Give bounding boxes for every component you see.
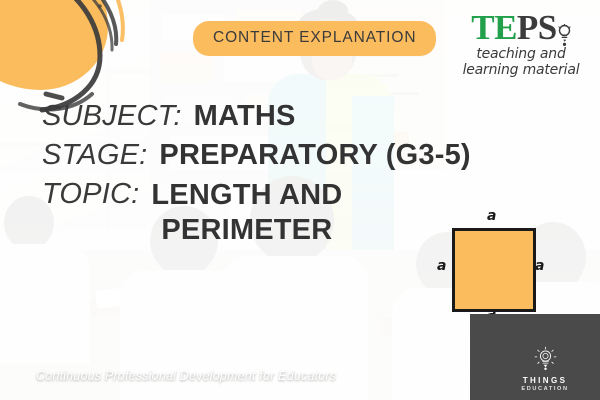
badge-name: THINGS	[512, 376, 578, 386]
content-explanation-badge: CONTENT EXPLANATION	[193, 21, 436, 56]
badge-label: CONTENT EXPLANATION	[213, 29, 416, 46]
lightbulb-icon	[534, 346, 557, 371]
footer-tagline: Continuous Professional Development for …	[36, 369, 336, 383]
topic-value: LENGTH AND PERIMETER	[151, 178, 342, 249]
square-diagram	[452, 228, 536, 312]
topic-value-line1: LENGTH AND	[151, 178, 342, 213]
teps-logo: TEPS teaching and learning material	[456, 10, 586, 78]
topic-label: TOPIC:	[42, 178, 139, 211]
logo-text-ps: PS	[517, 10, 557, 45]
content-explanation-card: CONTENT EXPLANATION TEPS teaching and le…	[0, 0, 600, 400]
row-stage: STAGE: PREPARATORY (G3-5)	[42, 139, 562, 172]
square-label-left: a	[437, 258, 446, 274]
square-label-right: a	[535, 258, 544, 274]
logo-tagline: teaching and learning material	[456, 47, 586, 78]
subject-value: MATHS	[194, 100, 296, 133]
row-subject: SUBJECT: MATHS	[42, 100, 562, 133]
logo-tagline-line1: teaching and	[456, 47, 586, 63]
logo-text-te: TE	[471, 10, 517, 45]
subject-label: SUBJECT:	[42, 100, 182, 133]
logo-tagline-line2: learning material	[456, 63, 586, 79]
stage-label: STAGE:	[42, 139, 147, 172]
stage-value: PREPARATORY (G3-5)	[159, 139, 470, 172]
things-education-badge: THINGS EDUCATION	[512, 346, 578, 392]
logo-wordmark: TEPS	[456, 10, 586, 45]
lightbulb-icon	[558, 17, 571, 39]
topic-value-line2: PERIMETER	[161, 213, 332, 248]
badge-subtitle: EDUCATION	[512, 386, 578, 392]
square-label-top: a	[487, 208, 496, 224]
